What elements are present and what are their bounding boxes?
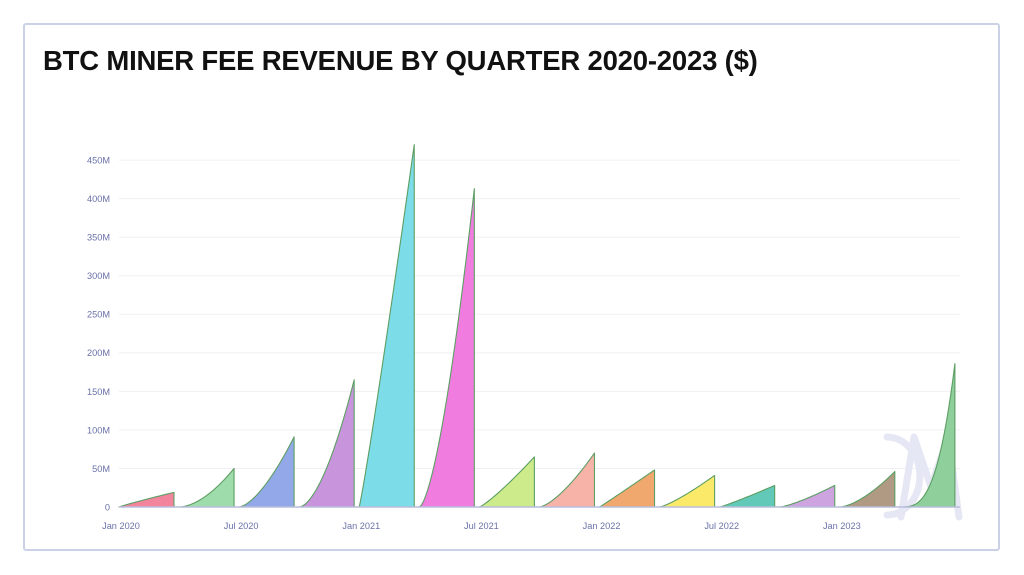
quarter-area-q2-2022 [660,475,715,507]
quarter-area-q3-2020 [239,437,294,507]
quarter-area-q3-2021 [479,457,534,507]
x-tick-label: Jul 2022 [704,521,739,531]
x-tick-label: Jan 2022 [583,521,621,531]
y-tick-label: 350M [87,233,110,243]
y-tick-label: 400M [87,194,110,204]
quarter-area-q4-2021 [540,453,595,507]
x-tick-label: Jan 2020 [102,521,140,531]
y-axis-tick-labels: 050M100M150M200M250M300M350M400M450M [87,156,110,513]
area-chart: 050M100M150M200M250M300M350M400M450M Jan… [25,115,998,549]
y-tick-label: 250M [87,310,110,320]
page-title: BTC MINER FEE REVENUE BY QUARTER 2020-20… [43,45,758,77]
y-tick-label: 200M [87,348,110,358]
y-tick-label: 300M [87,271,110,281]
y-tick-label: 50M [92,464,110,474]
y-tick-label: 150M [87,387,110,397]
quarter-area-q3-2022 [720,485,775,507]
quarter-area-q2-2020 [179,468,234,507]
x-axis-tick-labels: Jan 2020Jul 2020Jan 2021Jul 2021Jan 2022… [102,521,861,531]
x-tick-label: Jul 2020 [224,521,259,531]
y-tick-label: 100M [87,425,110,435]
quarter-area-q1-2022 [600,470,655,507]
quarter-area-q2-2021 [419,189,474,507]
x-tick-label: Jan 2023 [823,521,861,531]
quarter-area-q1-2023 [840,472,895,507]
x-tick-label: Jul 2021 [464,521,499,531]
x-tick-label: Jan 2021 [342,521,380,531]
chart-card: BTC MINER FEE REVENUE BY QUARTER 2020-20… [23,23,1000,551]
y-tick-label: 450M [87,156,110,166]
quarter-area-q4-2022 [780,485,835,507]
chart-plot-area: 050M100M150M200M250M300M350M400M450M Jan… [25,115,998,549]
gridlines [119,160,960,468]
y-tick-label: 0 [105,502,110,512]
quarter-area-q4-2020 [299,380,354,507]
quarter-area-q1-2020 [119,492,174,507]
